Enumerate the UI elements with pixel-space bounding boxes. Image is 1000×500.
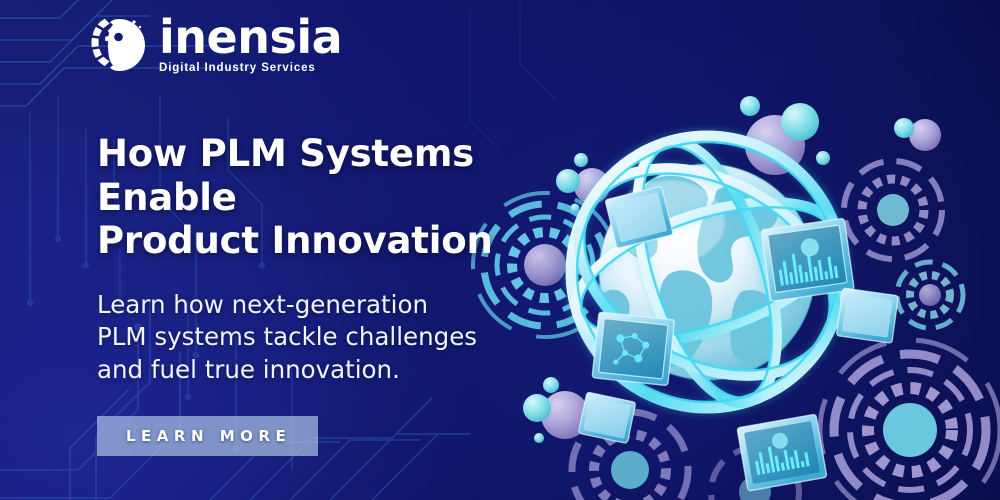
floating-spheres-right [894,118,941,151]
brand-logo-text: inensia Digital Industry Services [159,16,342,75]
hero-subheading: Learn how next-generation PLM systems ta… [97,289,577,386]
brand-tagline: Digital Industry Services [159,62,342,74]
chip-panel-right-far [836,288,898,343]
subhead-line-3: and fuel true innovation. [97,355,400,384]
chip-panel-left [592,312,674,386]
brand-logo[interactable]: inensia Digital Industry Services [88,14,342,76]
page-title: How PLM Systems Enable Product Innovatio… [97,132,577,263]
subhead-line-2: PLM systems tackle challenges [97,322,477,351]
inensia-gear-head-logo-icon [88,14,150,76]
hero-banner: inensia Digital Industry Services [0,0,1000,500]
hud-ring-top-right [844,161,942,259]
brand-name: inensia [159,16,342,60]
hero-copy: How PLM Systems Enable Product Innovatio… [97,132,577,456]
hud-ring-right-small [897,262,963,328]
subhead-line-1: Learn how next-generation [97,290,428,319]
headline-line-1: How PLM Systems Enable [97,132,474,219]
chip-panel-right [761,218,854,301]
learn-more-button[interactable]: LEARN MORE [97,416,318,456]
chip-panel-bottom-left [578,392,636,443]
hud-ring-bottom-right [820,340,1000,500]
chip-panel-bottom [737,414,827,491]
headline-line-2: Product Innovation [97,219,493,262]
